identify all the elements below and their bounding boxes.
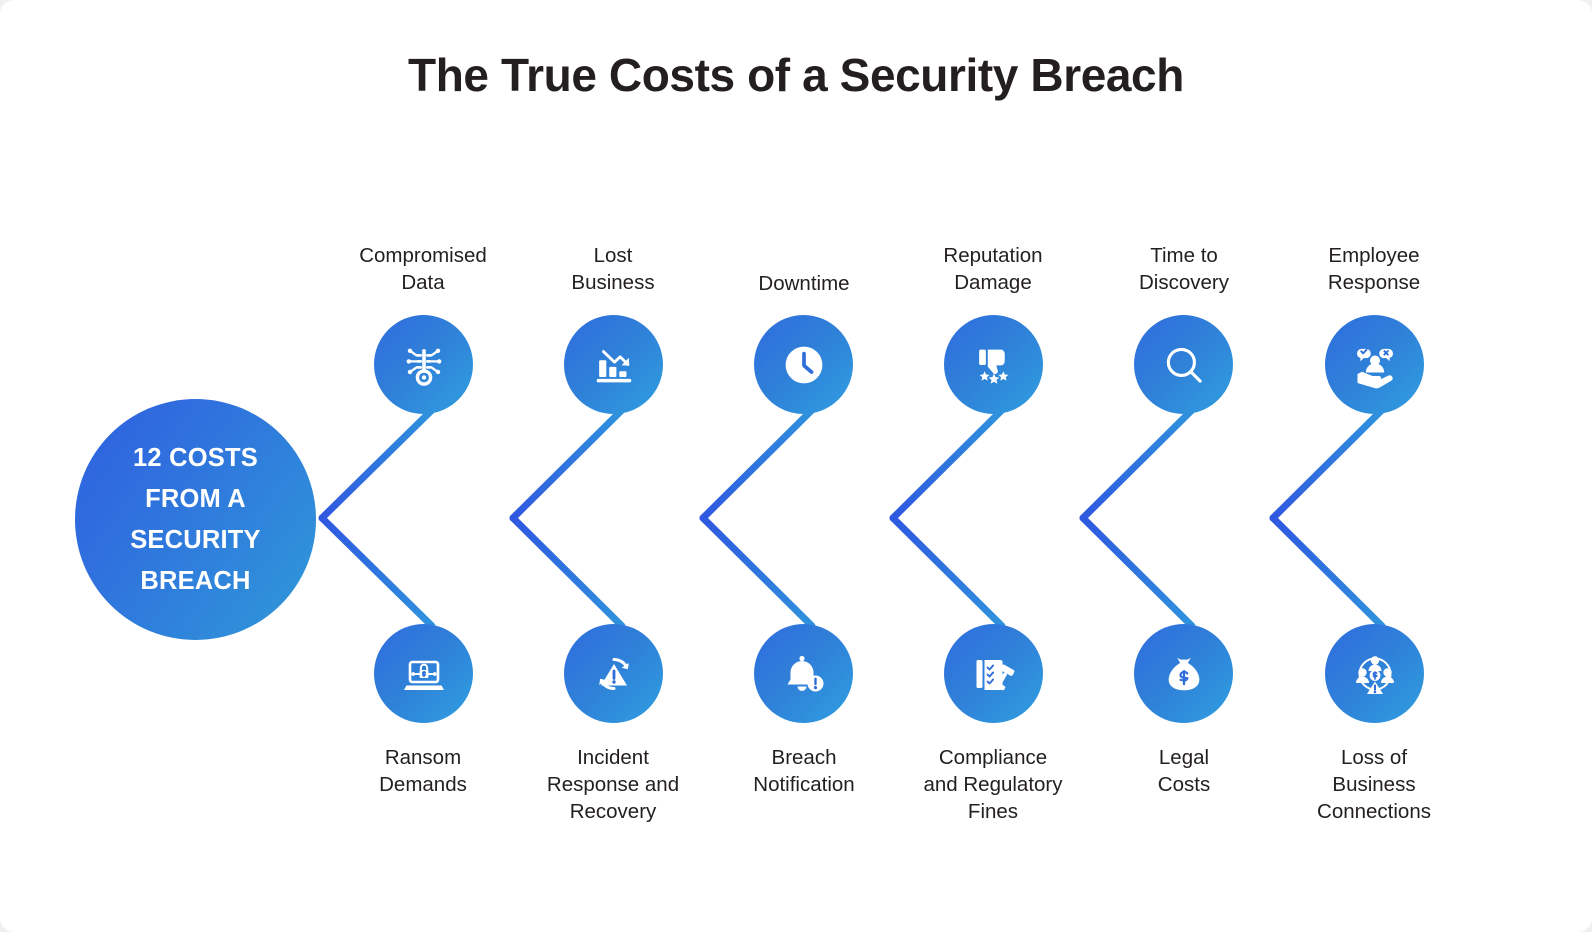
- clock-icon: [778, 339, 830, 391]
- branch-up-2: [513, 410, 622, 518]
- top-label-4: Reputation Damage: [893, 242, 1093, 296]
- bottom-bubble-5[interactable]: [1134, 624, 1233, 723]
- top-label-1: Compromised Data: [323, 242, 523, 296]
- hand-person-feedback-icon: [1351, 341, 1399, 389]
- top-bubble-2[interactable]: [564, 315, 663, 414]
- bottom-label-3: Breach Notification: [704, 744, 904, 798]
- people-network-dollar-warning-icon: [1351, 650, 1399, 698]
- bottom-label-4: Compliance and Regulatory Fines: [893, 744, 1093, 825]
- branch-down-6: [1273, 518, 1382, 626]
- branch-up-3: [703, 410, 812, 518]
- bottom-bubble-3[interactable]: [754, 624, 853, 723]
- warning-recovery-cycle-icon: [590, 650, 638, 698]
- bottom-label-6: Loss of Business Connections: [1274, 744, 1474, 825]
- bottom-bubble-4[interactable]: [944, 624, 1043, 723]
- bottom-bubble-1[interactable]: [374, 624, 473, 723]
- top-label-3: Downtime: [704, 270, 904, 297]
- top-bubble-3[interactable]: [754, 315, 853, 414]
- center-hub-label: 12 COSTS FROM A SECURITY BREACH: [130, 438, 261, 602]
- top-bubble-6[interactable]: [1325, 315, 1424, 414]
- money-bag-dollar-icon: [1161, 651, 1207, 697]
- key-circuit-icon: [400, 341, 448, 389]
- bottom-label-1: Ransom Demands: [323, 744, 523, 798]
- top-label-2: Lost Business: [513, 242, 713, 296]
- branch-up-4: [893, 410, 1002, 518]
- branch-up-6: [1273, 410, 1382, 518]
- branch-up-5: [1083, 410, 1192, 518]
- bottom-bubble-6[interactable]: [1325, 624, 1424, 723]
- checklist-gavel-icon: [970, 650, 1018, 698]
- bottom-bubble-2[interactable]: [564, 624, 663, 723]
- branch-down-3: [703, 518, 812, 626]
- declining-bar-chart-icon: [591, 342, 637, 388]
- center-hub: 12 COSTS FROM A SECURITY BREACH: [75, 399, 316, 640]
- branch-up-1: [322, 410, 432, 518]
- thumbs-down-stars-icon: [971, 342, 1017, 388]
- laptop-padlock-dollar-icon: [400, 650, 448, 698]
- bottom-label-5: Legal Costs: [1084, 744, 1284, 798]
- top-bubble-4[interactable]: [944, 315, 1043, 414]
- top-bubble-5[interactable]: [1134, 315, 1233, 414]
- branch-down-4: [893, 518, 1002, 626]
- infographic-canvas: The True Costs of a Security Breach: [0, 0, 1592, 932]
- bell-alert-icon: [780, 650, 828, 698]
- top-label-6: Employee Response: [1274, 242, 1474, 296]
- top-label-5: Time to Discovery: [1084, 242, 1284, 296]
- branch-down-5: [1083, 518, 1192, 626]
- branch-down-2: [513, 518, 622, 626]
- top-bubble-1[interactable]: [374, 315, 473, 414]
- branch-down-1: [322, 518, 432, 626]
- magnifying-glass-icon: [1159, 340, 1209, 390]
- bottom-label-2: Incident Response and Recovery: [513, 744, 713, 825]
